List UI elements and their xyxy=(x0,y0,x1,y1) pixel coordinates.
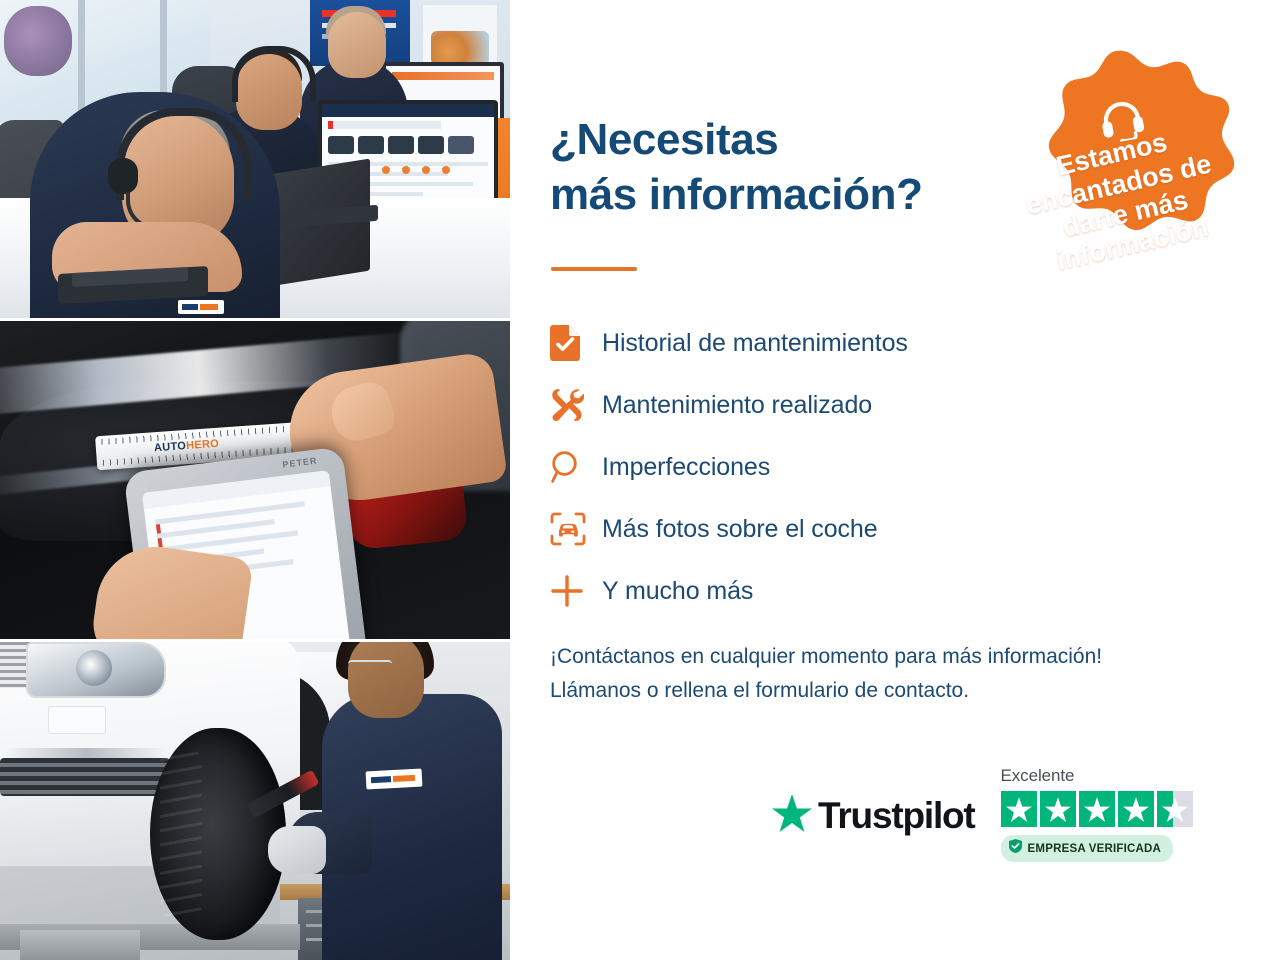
verified-label: EMPRESA VERIFICADA xyxy=(1028,843,1162,855)
star-filled xyxy=(1079,791,1115,827)
verified-badge: EMPRESA VERIFICADA xyxy=(1001,835,1174,862)
autohero-shirt-logo xyxy=(178,300,224,314)
feature-label: Historial de mantenimientos xyxy=(602,329,908,358)
star-filled xyxy=(1001,791,1037,827)
trustpilot-wordmark: Trustpilot xyxy=(818,795,975,837)
car-lift-arm xyxy=(20,930,140,960)
promo-badge: Estamos encantados de darte más informac… xyxy=(988,47,1256,315)
promo-banner: AUTOHERO PETER xyxy=(0,0,1280,960)
title-underline-rule xyxy=(551,267,637,271)
star-filled xyxy=(1118,791,1154,827)
feature-item-historial: Historial de mantenimientos xyxy=(550,312,1070,374)
autohero-shirt-logo xyxy=(366,769,423,790)
photo-inspection: AUTOHERO PETER xyxy=(0,321,510,639)
trustpilot-block: Trustpilot Excelente xyxy=(772,766,1193,862)
feature-item-mucho-mas: Y mucho más xyxy=(550,560,1070,622)
photo-column: AUTOHERO PETER xyxy=(0,0,510,960)
technician xyxy=(322,694,502,960)
page-title: ¿Necesitas más información? xyxy=(550,112,923,223)
feature-label: Más fotos sobre el coche xyxy=(602,515,878,544)
tyre xyxy=(150,728,286,940)
photo-call-center xyxy=(0,0,510,318)
magnifier-icon xyxy=(550,447,602,487)
car-scan-icon xyxy=(550,509,602,549)
feature-item-imperfecciones: Imperfecciones xyxy=(550,436,1070,498)
contact-paragraph: ¡Contáctanos en cualquier momento para m… xyxy=(550,640,1250,708)
feature-list: Historial de mantenimientos Mantenim xyxy=(550,312,1070,622)
trustpilot-logo: Trustpilot xyxy=(772,794,975,837)
feature-item-fotos: Más fotos sobre el coche xyxy=(550,498,1070,560)
contact-line-2: Llámanos o rellena el formulario de cont… xyxy=(550,674,1250,708)
photo-workshop xyxy=(0,642,510,960)
work-glove xyxy=(268,826,326,874)
plus-icon xyxy=(550,571,602,611)
shield-check-icon xyxy=(1009,839,1022,858)
rating-label: Excelente xyxy=(1001,766,1075,786)
contact-line-1: ¡Contáctanos en cualquier momento para m… xyxy=(550,640,1250,674)
feature-label: Imperfecciones xyxy=(602,453,770,482)
foliage xyxy=(4,6,72,76)
star-partial xyxy=(1157,791,1193,827)
feature-label: Mantenimiento realizado xyxy=(602,391,872,420)
trustpilot-rating: Excelente xyxy=(1001,766,1193,862)
feature-item-mantenimiento: Mantenimiento realizado xyxy=(550,374,1070,436)
trustpilot-star-icon xyxy=(772,794,812,837)
document-check-icon xyxy=(550,323,602,363)
star-filled xyxy=(1040,791,1076,827)
star-rating xyxy=(1001,791,1193,827)
content-panel: ¿Necesitas más información? Estamos enca… xyxy=(510,0,1280,960)
feature-label: Y mucho más xyxy=(602,577,753,606)
tools-icon xyxy=(550,385,602,425)
